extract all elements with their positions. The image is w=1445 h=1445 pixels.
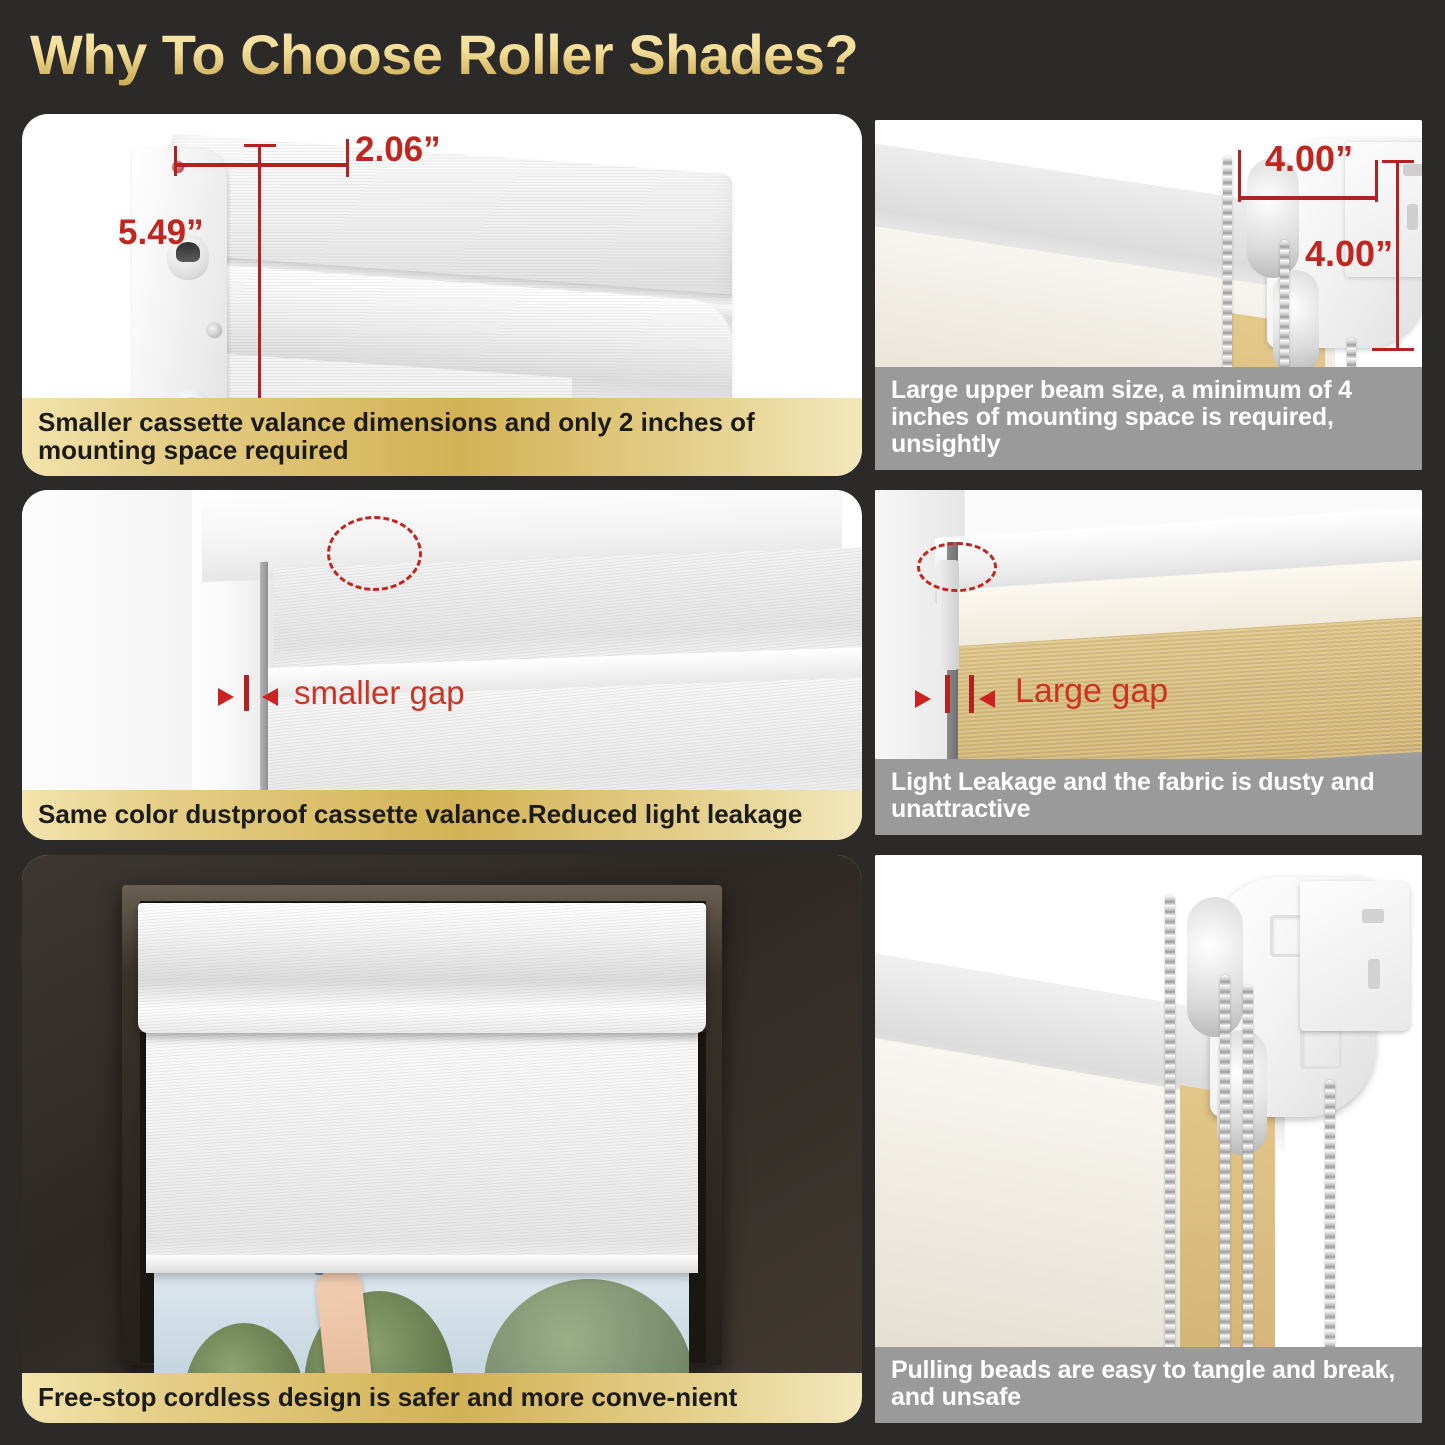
bead-chain-4[interactable] — [1325, 1080, 1335, 1355]
caption-light-leakage: Light Leakage and the fabric is dusty an… — [875, 759, 1422, 835]
panel-light-leakage: Large gap Light Leakage and the fabric i… — [875, 490, 1422, 835]
large-gap-marker-bar-1 — [945, 675, 950, 713]
beam-width-tick-left — [1238, 150, 1241, 202]
leak-highlight-ellipse — [917, 542, 997, 592]
caption-pulling-beads: Pulling beads are easy to tangle and bre… — [875, 1347, 1422, 1423]
large-gap-callout-label: Large gap — [1015, 672, 1168, 711]
roller-shade-hem-bar — [146, 1255, 698, 1273]
width-dim-line — [174, 163, 349, 167]
bead-mount-plate — [1300, 881, 1410, 1031]
valance-screw-icon — [207, 323, 222, 338]
bead-roller-end-cap — [1187, 897, 1243, 1037]
bead-chain-2[interactable] — [1220, 975, 1230, 1355]
panel-pulling-beads: Pulling beads are easy to tangle and bre… — [875, 855, 1422, 1423]
gap-highlight-ellipse — [327, 516, 422, 591]
beam-width-dimension-label: 4.00” — [1265, 138, 1353, 180]
photo-free-stop-cordless — [22, 855, 862, 1423]
caption-free-stop-cordless: Free-stop cordless design is safer and m… — [22, 1373, 862, 1423]
panel-dustproof-cassette-valance: smaller gap Same color dustproof cassett… — [22, 490, 862, 840]
panel-free-stop-cordless: Free-stop cordless design is safer and m… — [22, 855, 862, 1423]
width-dimension-label: 2.06” — [355, 130, 441, 170]
beam-height-tick-top — [1382, 160, 1414, 163]
photo-dustproof-valance: smaller gap — [22, 490, 862, 840]
roller-shade-fabric — [146, 1025, 698, 1270]
gap-callout-label: smaller gap — [294, 674, 465, 712]
bead-chain-1[interactable] — [1165, 895, 1175, 1355]
height-dim-line — [258, 144, 261, 429]
beam-width-dim-line — [1238, 196, 1378, 200]
height-dim-tick-top — [244, 144, 276, 147]
cassette-valance — [138, 903, 706, 1033]
large-gap-marker-bar-2 — [969, 675, 974, 713]
gap-marker-bar — [244, 675, 249, 711]
bead-chain-3[interactable] — [1243, 985, 1253, 1355]
large-gap-arrow-right-icon — [915, 690, 931, 708]
large-gap-arrow-left-icon — [979, 690, 995, 708]
caption-smaller-cassette-valance: Smaller cassette valance dimensions and … — [22, 398, 862, 476]
height-dimension-label: 5.49” — [118, 213, 204, 253]
title-bar: Why To Choose Roller Shades? Why To Choo… — [0, 0, 1445, 110]
panel-large-upper-beam: 4.00” 4.00” Large upper beam size, a min… — [875, 120, 1422, 470]
beam-height-dimension-label: 4.00” — [1305, 233, 1393, 275]
beam-width-tick-right — [1375, 160, 1378, 202]
gap-arrow-right-icon — [218, 688, 234, 706]
width-dim-tick-right — [346, 139, 349, 177]
width-dim-tick-left — [174, 146, 177, 176]
caption-large-upper-beam: Large upper beam size, a minimum of 4 in… — [875, 367, 1422, 470]
gap-arrow-left-icon — [262, 688, 278, 706]
bracket-lower-icon — [1300, 1027, 1342, 1069]
beam-height-tick-bottom — [1372, 348, 1414, 351]
beam-height-dim-line — [1396, 160, 1399, 350]
caption-dustproof-cassette-valance: Same color dustproof cassette valance.Re… — [22, 790, 862, 840]
page-title: Why To Choose Roller Shades? — [30, 22, 858, 87]
panel-smaller-cassette-valance: 2.06” 5.49” Smaller cassette valance dim… — [22, 114, 862, 476]
photo-pulling-beads — [875, 855, 1422, 1423]
